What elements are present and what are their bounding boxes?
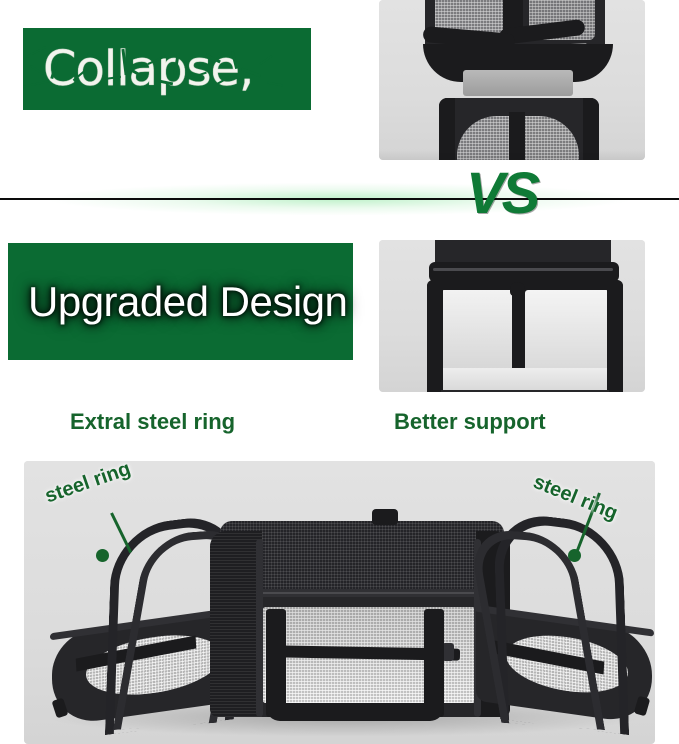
caption-better-support: Better support — [394, 409, 546, 435]
upgraded-banner-label: Upgraded Design — [28, 278, 347, 326]
promo-image-root: Collapse, — [0, 0, 679, 744]
upper-zipper-band — [429, 262, 619, 282]
left-annotation-dot — [96, 549, 109, 562]
top-flap-tab — [372, 509, 398, 525]
caption-extral-steel-ring: Extral steel ring — [70, 409, 235, 435]
carry-handle-left-post — [266, 609, 286, 717]
carry-handle-right-post — [424, 609, 444, 717]
collapsed-pad — [463, 70, 573, 96]
right-annotation-dot — [568, 549, 581, 562]
photo-collapsed-carrier — [379, 0, 645, 160]
body-left-edge — [210, 531, 262, 717]
photo-supported-carrier — [379, 240, 645, 392]
zipper-pull — [510, 282, 525, 296]
upgraded-design-banner: Upgraded Design — [8, 243, 353, 360]
collapse-banner-label: Collapse, — [43, 41, 253, 97]
vs-label: VS — [466, 160, 537, 227]
collapse-text-wrap: Collapse, — [23, 45, 253, 93]
carrier-base — [441, 390, 609, 392]
divider-line — [0, 198, 679, 200]
photo-gradient-edge — [379, 150, 645, 160]
body-left-vertical-zip — [256, 539, 263, 717]
collapse-banner: Collapse, — [23, 28, 311, 110]
top-flap-zipper-teeth — [224, 592, 504, 594]
upper-zipper-teeth — [433, 268, 613, 271]
carry-handle-bottom-bridge — [266, 703, 444, 721]
flap-right-edge — [607, 280, 623, 392]
flap-left-edge — [427, 280, 443, 392]
window-fleece-bottom — [441, 368, 609, 390]
